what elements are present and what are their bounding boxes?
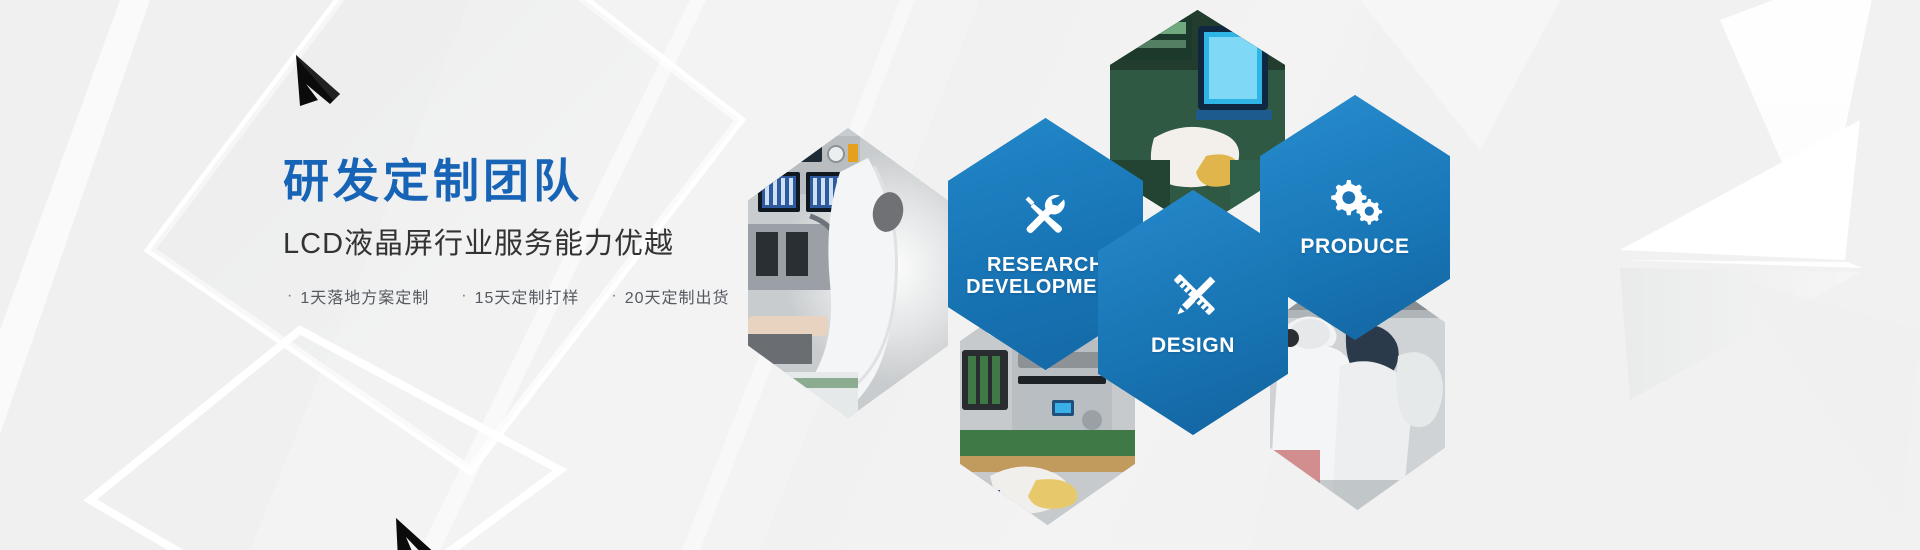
page-subtitle: LCD液晶屏行业服务能力优越 (283, 220, 883, 262)
bullet-dot-icon: · (461, 287, 467, 305)
hexagon-cluster: RESEARCH DEVELOPMENT (720, 0, 1920, 550)
gears-icon (1326, 177, 1384, 225)
feature-item-1-label: 1天落地方案定制 (300, 284, 429, 308)
feature-list: · 1天落地方案定制 · 15天定制打样 · 20天定制出货 (287, 284, 883, 308)
hexagon-design-label: DESIGN (1151, 334, 1235, 358)
hexagon-produce[interactable]: PRODUCE (1260, 95, 1450, 340)
pencil-ruler-icon (1165, 268, 1221, 324)
hexagon-produce-content: PRODUCE (1260, 95, 1450, 340)
feature-item-3-label: 20天定制出货 (625, 284, 730, 308)
wrench-screwdriver-icon (1019, 190, 1073, 244)
headline-block: 研发定制团队 LCD液晶屏行业服务能力优越 · 1天落地方案定制 · 15天定制… (283, 155, 883, 308)
feature-item-1: · 1天落地方案定制 (287, 284, 429, 308)
hero-banner: 研发定制团队 LCD液晶屏行业服务能力优越 · 1天落地方案定制 · 15天定制… (0, 0, 1920, 550)
feature-item-2: · 15天定制打样 (461, 284, 579, 308)
bullet-dot-icon: · (611, 287, 617, 305)
feature-item-2-label: 15天定制打样 (475, 284, 580, 308)
page-title: 研发定制团队 (283, 155, 883, 208)
bullet-dot-icon: · (287, 287, 293, 305)
feature-item-3: · 20天定制出货 (611, 284, 729, 308)
hexagon-produce-label: PRODUCE (1300, 235, 1409, 259)
